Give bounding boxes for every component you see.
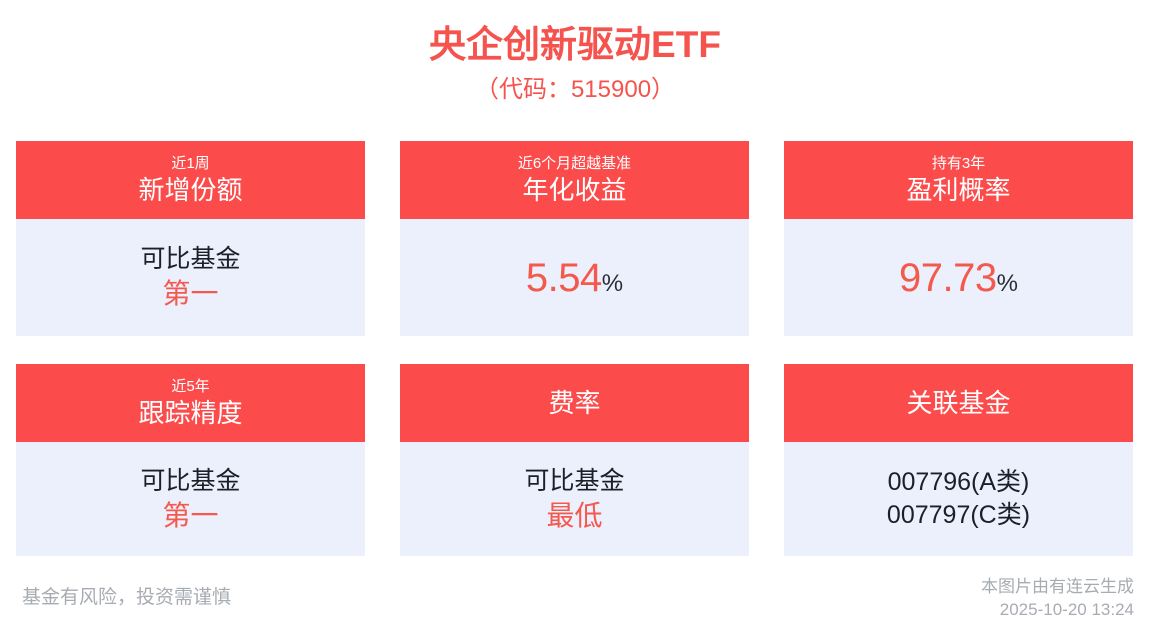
card-value-number: 97.73 — [899, 254, 997, 302]
card-header-sub: 近1周 — [171, 154, 209, 174]
metric-card-annualized-return[interactable]: 近6个月超越基准 年化收益 5.54 % — [400, 141, 749, 336]
page-header: 央企创新驱动ETF （代码：515900） — [0, 0, 1150, 107]
card-header: 近5年 跟踪精度 — [16, 364, 365, 442]
fund-code-subtitle: （代码：515900） — [0, 73, 1150, 107]
card-value-unit: % — [997, 269, 1018, 299]
card-header-sub: 持有3年 — [932, 154, 985, 174]
card-header-sub: 近6个月超越基准 — [518, 154, 631, 174]
card-value-number: 5.54 — [526, 254, 602, 302]
card-body-line-1: 可比基金 — [140, 465, 240, 498]
card-body-value: 5.54 % — [526, 254, 623, 302]
metric-card-grid: 近1周 新增份额 可比基金 第一 近6个月超越基准 年化收益 5.54 % 持有… — [16, 141, 1135, 556]
metric-card-fee-rate[interactable]: 费率 可比基金 最低 — [400, 364, 749, 556]
card-body-value: 97.73 % — [899, 254, 1018, 302]
metric-card-new-shares[interactable]: 近1周 新增份额 可比基金 第一 — [16, 141, 365, 336]
related-fund-code-c: 007797(C类) — [887, 499, 1030, 532]
card-body: 可比基金 最低 — [400, 442, 749, 556]
card-body-line-2: 第一 — [162, 276, 218, 312]
card-body-line-1: 可比基金 — [140, 243, 240, 276]
card-header-main: 盈利概率 — [906, 174, 1010, 206]
card-body-line-1: 可比基金 — [524, 465, 624, 498]
generation-info: 本图片由有连云生成 2025-10-20 13:24 — [981, 575, 1134, 621]
card-body: 可比基金 第一 — [16, 219, 365, 336]
metric-card-related-funds[interactable]: 关联基金 007796(A类) 007797(C类) — [784, 364, 1133, 556]
card-header-main: 关联基金 — [906, 387, 1010, 419]
card-header-main: 新增份额 — [138, 174, 242, 206]
card-body: 可比基金 第一 — [16, 442, 365, 556]
card-header: 近1周 新增份额 — [16, 141, 365, 219]
risk-disclaimer: 基金有风险，投资需谨慎 — [22, 585, 231, 611]
card-header: 费率 — [400, 364, 749, 442]
generation-timestamp: 2025-10-20 13:24 — [981, 598, 1134, 621]
card-header-sub: 近5年 — [171, 377, 209, 397]
card-body: 007796(A类) 007797(C类) — [784, 442, 1133, 556]
metric-card-tracking-accuracy[interactable]: 近5年 跟踪精度 可比基金 第一 — [16, 364, 365, 556]
metric-card-profit-probability[interactable]: 持有3年 盈利概率 97.73 % — [784, 141, 1133, 336]
card-header-main: 年化收益 — [522, 174, 626, 206]
page-title: 央企创新驱动ETF — [0, 22, 1150, 68]
card-header-main: 跟踪精度 — [138, 397, 242, 429]
generation-source: 本图片由有连云生成 — [981, 575, 1134, 598]
card-header: 关联基金 — [784, 364, 1133, 442]
card-header: 持有3年 盈利概率 — [784, 141, 1133, 219]
card-header-main: 费率 — [548, 387, 600, 419]
card-value-unit: % — [602, 269, 623, 299]
card-body-line-2: 最低 — [546, 498, 602, 534]
card-body: 5.54 % — [400, 219, 749, 336]
card-header: 近6个月超越基准 年化收益 — [400, 141, 749, 219]
card-body: 97.73 % — [784, 219, 1133, 336]
page-footer: 基金有风险，投资需谨慎 本图片由有连云生成 2025-10-20 13:24 — [0, 570, 1150, 632]
related-fund-code-a: 007796(A类) — [888, 466, 1030, 499]
card-body-line-2: 第一 — [162, 498, 218, 534]
